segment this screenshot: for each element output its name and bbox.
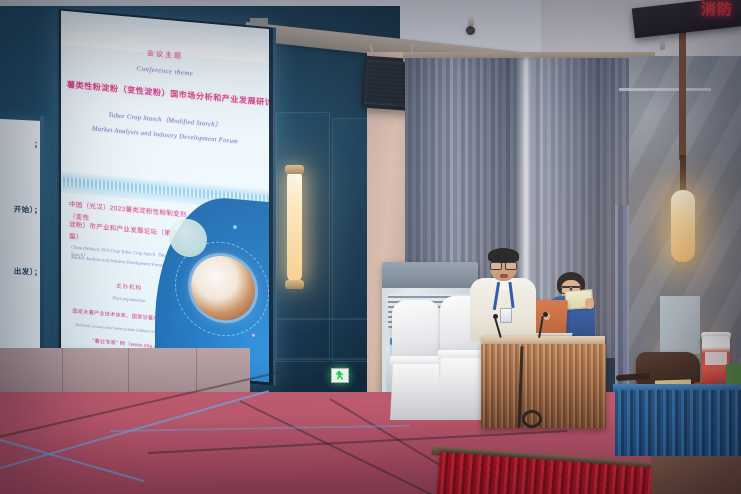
side-screen-line-2: 开始）； (2, 203, 42, 216)
microphone-head (543, 312, 548, 317)
pendant-light-stem (679, 30, 686, 160)
secondary-projection-screen: ； 开始）； 出发）； (0, 119, 44, 371)
eyeglasses-icon (490, 262, 517, 268)
speaker-person (470, 250, 536, 342)
slide-title-cn: 薯类性粉淀粉（变性淀粉）国市场分析和产业发展研讨 (67, 79, 263, 107)
product-label (705, 352, 727, 365)
wall-sconce-cap (285, 165, 304, 174)
chair-back (392, 300, 440, 358)
emergency-exit-sign (331, 368, 349, 383)
conference-hall-photo: 消防 会议主题 Conference theme 薯类性粉淀粉（变性淀粉）国市场… (0, 0, 741, 494)
slide-dot (252, 334, 255, 337)
wall-poster (660, 296, 700, 354)
ceiling-track-fitting (660, 36, 665, 50)
speaker-mouth (500, 274, 508, 278)
side-screen-line-1: ； (2, 137, 42, 150)
led-sign-text: 消防 (701, 0, 733, 19)
name-badge (500, 308, 512, 323)
chair-skirt (438, 358, 486, 420)
ceiling-track-fitting (468, 14, 474, 26)
stone-wall-shelf (619, 88, 711, 91)
ceiling-spot-light (466, 26, 475, 35)
attendee-hand (585, 298, 594, 309)
air-conditioner-top (382, 262, 478, 288)
green-item (726, 364, 741, 384)
side-screen-line-3: 出发）； (2, 265, 42, 278)
secondary-screen-edge (40, 116, 44, 374)
microphone-head (493, 314, 498, 319)
wall-sconce-cap (285, 280, 304, 289)
projection-screen: 会议主题 Conference theme 薯类性粉淀粉（变性淀粉）国市场分析和… (57, 8, 276, 386)
banquet-chair (390, 300, 442, 420)
running-man-icon (336, 371, 345, 380)
cable-loop (522, 410, 542, 428)
side-table-skirt (615, 390, 741, 456)
chair-skirt (390, 364, 442, 420)
presenter-table-skirt (481, 344, 606, 428)
pendant-light-stem (680, 155, 686, 193)
wall-sconce-light (287, 170, 302, 282)
slide-dot (233, 225, 237, 229)
speaker-hair (488, 248, 519, 263)
projection-slide: 会议主题 Conference theme 薯类性粉淀粉（变性淀粉）国市场分析和… (61, 11, 269, 383)
wall-panel (276, 112, 330, 362)
